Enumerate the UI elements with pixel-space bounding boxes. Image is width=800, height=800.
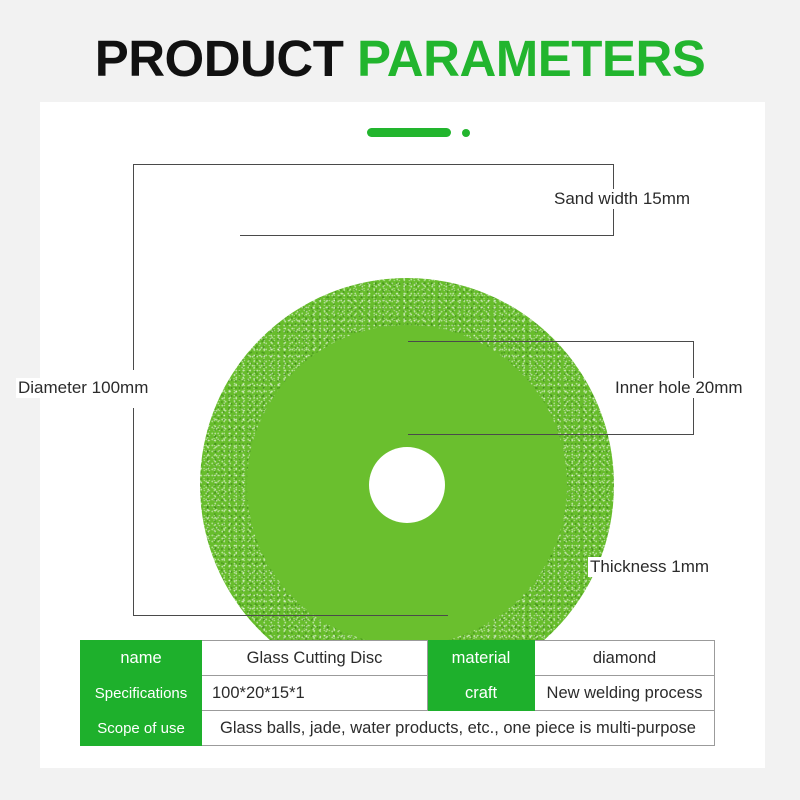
- sand-width-leader-bottom: [240, 235, 614, 236]
- spec-key-scope-of-use: Scope of use: [81, 711, 202, 746]
- page-title-accent: PARAMETERS: [357, 30, 705, 87]
- page-root: PRODUCT PARAMETERS Diameter 100mm Sand w…: [0, 0, 800, 800]
- spec-value-craft: New welding process: [535, 676, 715, 711]
- disc-center-hole: [369, 447, 445, 523]
- spec-value-name: Glass Cutting Disc: [202, 641, 428, 676]
- diameter-bracket-lower: [133, 408, 134, 615]
- green-dot-icon: [462, 129, 470, 137]
- table-row: name Glass Cutting Disc material diamond: [81, 641, 715, 676]
- table-row: Scope of use Glass balls, jade, water pr…: [81, 711, 715, 746]
- sand-width-leader-top: [448, 164, 614, 165]
- table-row: Specifications 100*20*15*1 craft New wel…: [81, 676, 715, 711]
- spec-key-craft: craft: [428, 676, 535, 711]
- spec-value-material: diamond: [535, 641, 715, 676]
- thickness-label: Thickness 1mm: [588, 557, 711, 577]
- spec-value-scope-of-use: Glass balls, jade, water products, etc.,…: [202, 711, 715, 746]
- diameter-bracket-upper: [133, 164, 134, 370]
- decorative-divider: [367, 126, 492, 140]
- page-title-primary: PRODUCT: [95, 30, 344, 87]
- sand-width-label: Sand width 15mm: [552, 189, 692, 209]
- spec-value-specifications: 100*20*15*1: [202, 676, 428, 711]
- diameter-leader-bottom: [133, 615, 448, 616]
- specification-table: name Glass Cutting Disc material diamond…: [80, 640, 715, 746]
- diameter-leader-top: [133, 164, 448, 165]
- spec-key-material: material: [428, 641, 535, 676]
- spec-key-name: name: [81, 641, 202, 676]
- spec-key-specifications: Specifications: [81, 676, 202, 711]
- inner-hole-leader-bottom: [408, 434, 694, 435]
- inner-hole-label: Inner hole 20mm: [613, 378, 745, 398]
- page-title: PRODUCT PARAMETERS: [0, 28, 800, 90]
- diameter-label: Diameter 100mm: [16, 378, 150, 398]
- green-pill-icon: [367, 128, 451, 137]
- inner-hole-leader-top: [408, 341, 694, 342]
